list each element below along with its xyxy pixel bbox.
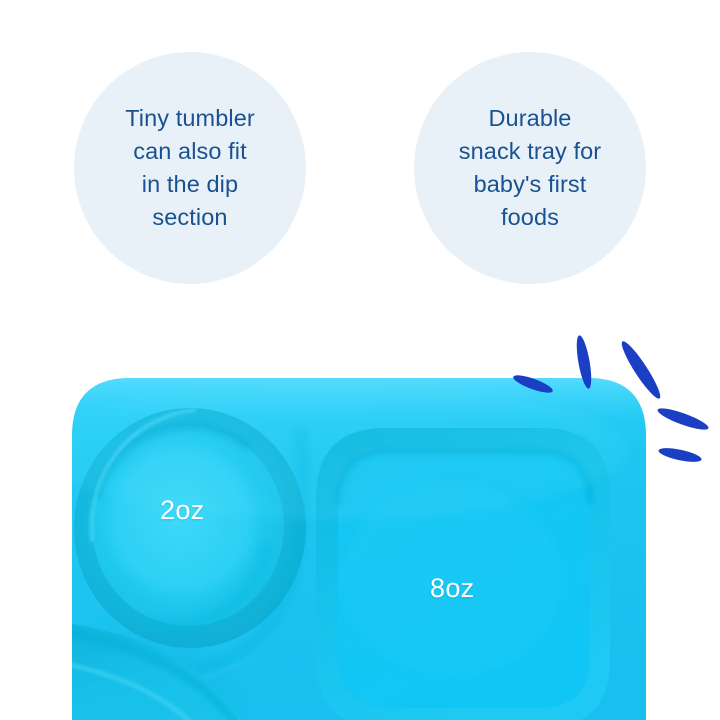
tray-graphic — [0, 330, 720, 720]
feature-text-durable-snack-tray: Durable snack tray for baby's first food… — [449, 102, 611, 234]
sparkle-ray-5 — [657, 445, 702, 464]
sparkle-ray-4 — [656, 405, 711, 434]
feature-text-tiny-tumbler: Tiny tumbler can also fit in the dip sec… — [115, 102, 265, 234]
product-tray-illustration — [0, 330, 720, 720]
feature-circle-tiny-tumbler: Tiny tumbler can also fit in the dip sec… — [74, 52, 306, 284]
product-feature-graphic: Tiny tumbler can also fit in the dip sec… — [0, 0, 720, 720]
feature-circle-durable-snack-tray: Durable snack tray for baby's first food… — [414, 52, 646, 284]
